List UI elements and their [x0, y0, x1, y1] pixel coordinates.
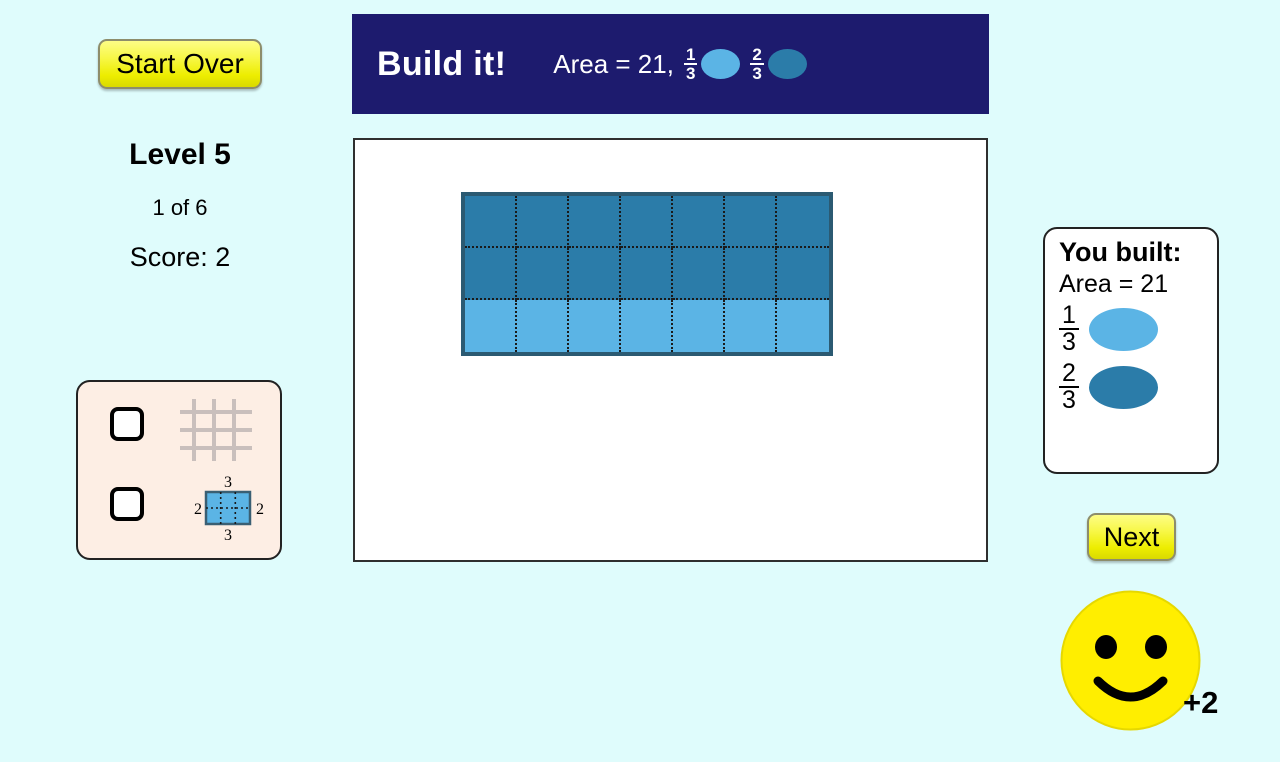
- you-built-fraction-1-denominator: 3: [1059, 330, 1079, 355]
- unit-square[interactable]: [621, 248, 673, 300]
- you-built-title: You built:: [1059, 237, 1217, 268]
- you-built-fraction-2-denominator: 3: [1059, 388, 1079, 413]
- unit-square[interactable]: [673, 196, 725, 248]
- unit-square[interactable]: [569, 248, 621, 300]
- unit-square[interactable]: [621, 300, 673, 352]
- option-row-grid: [78, 394, 280, 466]
- unit-square[interactable]: [569, 196, 621, 248]
- banner-fraction-2-numerator: 2: [750, 46, 763, 65]
- unit-square[interactable]: [569, 300, 621, 352]
- grid-icon: [178, 397, 254, 463]
- you-built-fraction-row-2: 2 3: [1059, 361, 1217, 413]
- unit-square[interactable]: [725, 248, 777, 300]
- level-label: Level 5: [0, 138, 360, 172]
- next-button[interactable]: Next: [1087, 513, 1176, 561]
- you-built-fraction-2-swatch: [1089, 366, 1158, 409]
- dims-top-label: 3: [224, 474, 232, 491]
- banner-fraction-1-swatch: [701, 49, 740, 79]
- banner-fraction-2: 2 3: [750, 46, 763, 83]
- dimension-labels-icon: 3 3 2 2: [176, 472, 276, 544]
- reward-points-label: +2: [1183, 685, 1218, 721]
- you-built-fraction-1-swatch: [1089, 308, 1158, 351]
- dims-right-label: 2: [256, 501, 264, 518]
- banner-fraction-2-denominator: 3: [750, 65, 763, 82]
- unit-square[interactable]: [777, 248, 829, 300]
- unit-square[interactable]: [465, 248, 517, 300]
- banner-fraction-1-numerator: 1: [684, 46, 697, 65]
- you-built-fraction-row-1: 1 3: [1059, 303, 1217, 355]
- build-canvas[interactable]: [353, 138, 988, 562]
- progress-label: 1 of 6: [0, 195, 360, 221]
- you-built-fraction-2-numerator: 2: [1059, 361, 1079, 388]
- banner-area-text: Area = 21,: [553, 49, 674, 80]
- grid-visibility-checkbox[interactable]: [110, 407, 144, 441]
- reward-area: +2: [1059, 589, 1280, 749]
- unit-square[interactable]: [465, 196, 517, 248]
- task-banner: Build it! Area = 21, 1 3 2 3: [352, 14, 989, 114]
- unit-square[interactable]: [725, 300, 777, 352]
- unit-square[interactable]: [517, 300, 569, 352]
- unit-square[interactable]: [465, 300, 517, 352]
- unit-square[interactable]: [517, 196, 569, 248]
- display-options-panel: 3 3 2 2: [76, 380, 282, 560]
- built-rectangle[interactable]: [461, 192, 833, 356]
- you-built-fraction-1: 1 3: [1059, 303, 1079, 355]
- banner-fraction-1-denominator: 3: [684, 65, 697, 82]
- unit-square[interactable]: [777, 300, 829, 352]
- start-over-button[interactable]: Start Over: [98, 39, 262, 89]
- smiley-face-icon: [1059, 589, 1202, 732]
- banner-spec: Area = 21, 1 3 2 3: [553, 46, 807, 83]
- dims-bottom-label: 3: [224, 527, 232, 544]
- you-built-fraction-1-numerator: 1: [1059, 303, 1079, 330]
- you-built-area: Area = 21: [1059, 270, 1217, 299]
- unit-square[interactable]: [777, 196, 829, 248]
- score-label: Score: 2: [0, 242, 360, 273]
- unit-square[interactable]: [517, 248, 569, 300]
- option-row-dimensions: 3 3 2 2: [78, 474, 280, 546]
- unit-square[interactable]: [725, 196, 777, 248]
- dimensions-visibility-checkbox[interactable]: [110, 487, 144, 521]
- dims-left-label: 2: [194, 501, 202, 518]
- banner-fraction-2-swatch: [768, 49, 807, 79]
- unit-square[interactable]: [621, 196, 673, 248]
- you-built-panel: You built: Area = 21 1 3 2 3: [1043, 227, 1219, 474]
- banner-title: Build it!: [377, 45, 506, 84]
- you-built-fraction-2: 2 3: [1059, 361, 1079, 413]
- unit-square[interactable]: [673, 248, 725, 300]
- unit-square[interactable]: [673, 300, 725, 352]
- banner-fraction-1: 1 3: [684, 46, 697, 83]
